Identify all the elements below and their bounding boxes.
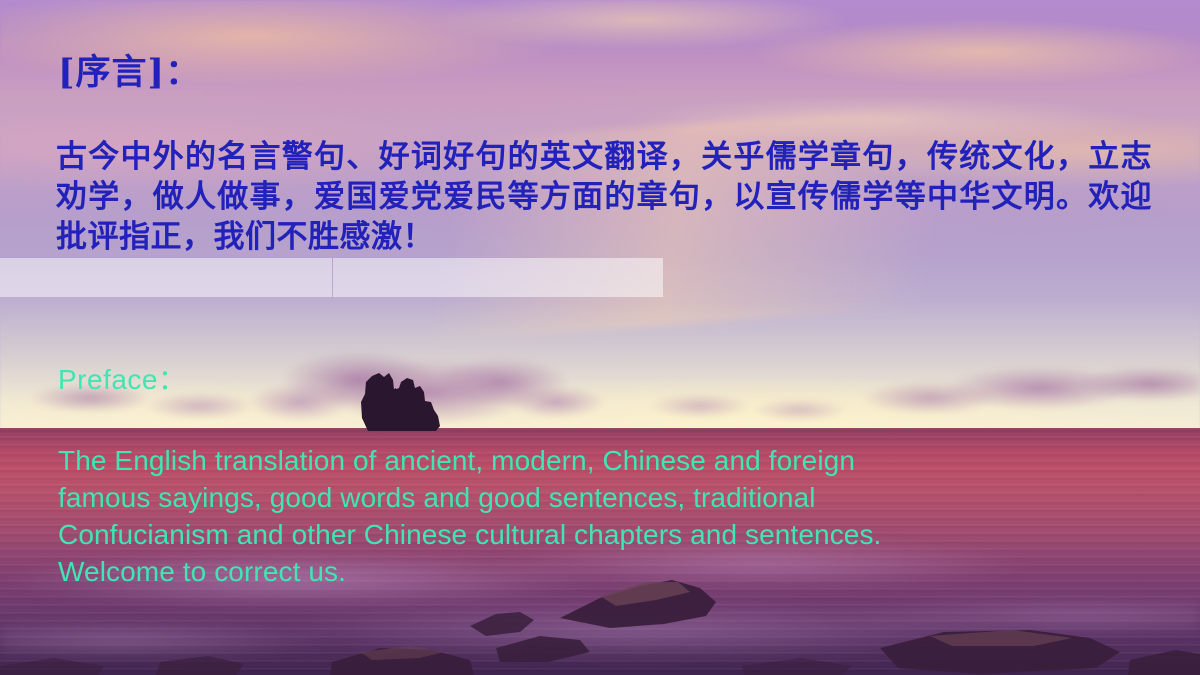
- white-band-left: [0, 258, 332, 297]
- english-body-line: famous sayings, good words and good sent…: [58, 479, 1118, 516]
- slide-canvas: [序言]： 古今中外的名言警句、好词好句的英文翻译，关乎儒学章句，传统文化，立志…: [0, 0, 1200, 675]
- english-body-line: Welcome to correct us.: [58, 553, 1118, 590]
- english-title: Preface：: [58, 358, 187, 398]
- english-body-line: Confucianism and other Chinese cultural …: [58, 516, 1118, 553]
- english-body-paragraph: The English translation of ancient, mode…: [58, 442, 1118, 590]
- chinese-title: [序言]：: [58, 44, 201, 95]
- chinese-body-paragraph: 古今中外的名言警句、好词好句的英文翻译，关乎儒学章句，传统文化，立志劝学，做人做…: [56, 137, 1152, 257]
- sea-stack-silhouette: [352, 368, 450, 431]
- english-body-line: The English translation of ancient, mode…: [58, 442, 1118, 479]
- white-band-right: [333, 258, 663, 297]
